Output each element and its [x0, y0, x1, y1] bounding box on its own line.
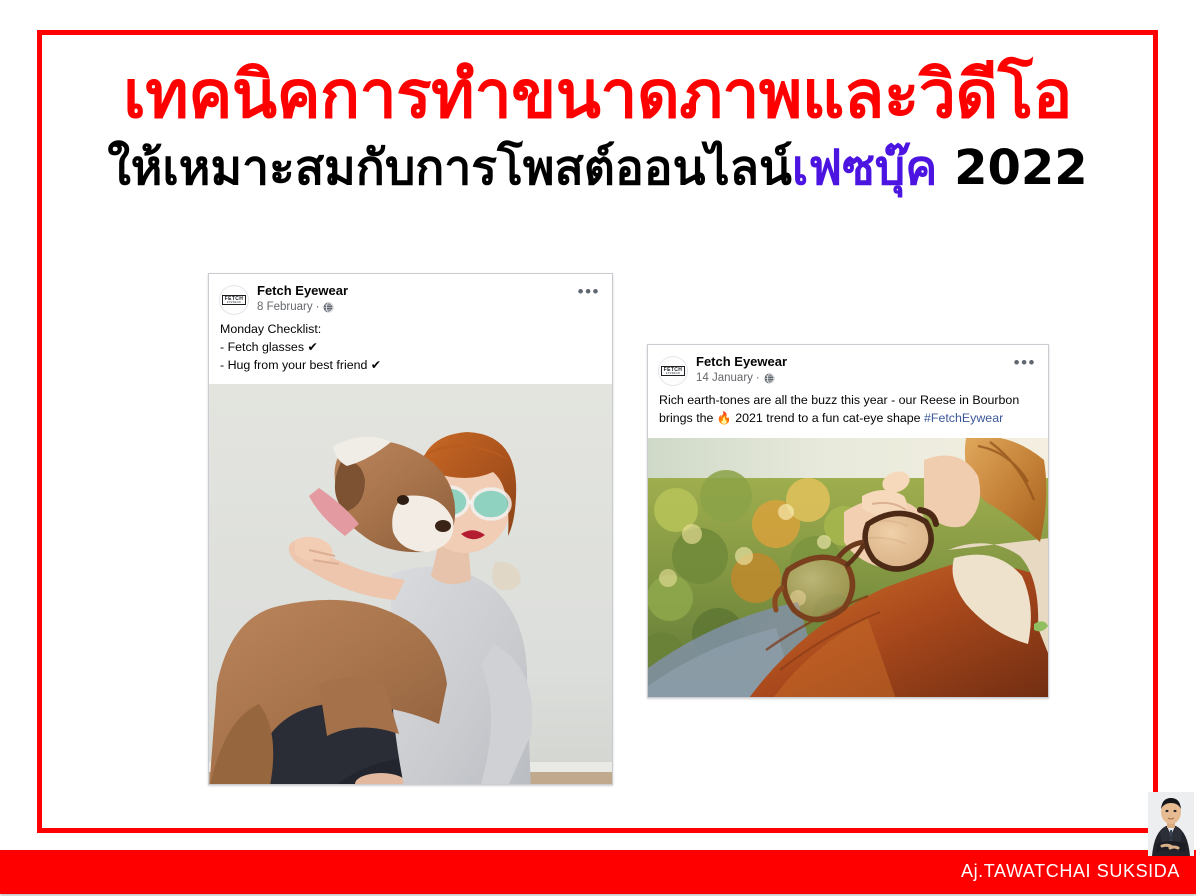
post-meta: 14 January ·: [696, 371, 1014, 387]
more-options-icon[interactable]: •••: [578, 283, 602, 298]
post-header: FETCH EYEWEAR Fetch Eyewear 8 February ·…: [209, 274, 612, 317]
post-meta: 8 February ·: [257, 300, 578, 316]
fetch-logo-mark: FETCH EYEWEAR: [661, 366, 686, 377]
facebook-post-card-2[interactable]: FETCH EYEWEAR Fetch Eyewear 14 January ·…: [647, 344, 1049, 698]
fetch-logo-mark: FETCH EYEWEAR: [222, 295, 247, 306]
post-date[interactable]: 14 January: [696, 371, 753, 387]
post-body-line: - Hug from your best friend ✔: [220, 357, 601, 375]
subtitle-accent-facebook: เฟซบุ๊ค: [792, 140, 938, 196]
globe-icon: [323, 302, 334, 313]
post-body: Monday Checklist: - Fetch glasses ✔ - Hu…: [209, 317, 612, 384]
post-photo-woman-hugging-dog[interactable]: [209, 384, 612, 785]
fire-emoji-icon: 🔥: [717, 411, 732, 425]
post-body-middle: 2021 trend to a fun cat-eye shape: [732, 411, 924, 425]
page-name[interactable]: Fetch Eyewear: [696, 354, 1014, 371]
presenter-photo: [1148, 792, 1194, 856]
post-body-line: - Fetch glasses ✔: [220, 339, 601, 357]
post-header: FETCH EYEWEAR Fetch Eyewear 14 January ·…: [648, 345, 1048, 388]
presenter-name: Aj.TAWATCHAI SUKSIDA: [961, 861, 1180, 882]
globe-icon: [764, 373, 775, 384]
page-name[interactable]: Fetch Eyewear: [257, 283, 578, 300]
page-title: เทคนิคการทำขนาดภาพและวิดีโอ: [37, 60, 1158, 129]
avatar-brand-subtext: EYEWEAR: [225, 302, 244, 304]
meta-separator: ·: [756, 371, 760, 387]
post-body-line: Monday Checklist:: [220, 321, 601, 339]
subtitle-segment-year: 2022: [937, 140, 1087, 196]
avatar[interactable]: FETCH EYEWEAR: [658, 356, 688, 386]
more-options-icon[interactable]: •••: [1014, 354, 1038, 369]
post-header-text: Fetch Eyewear 14 January ·: [696, 354, 1014, 386]
avatar[interactable]: FETCH EYEWEAR: [219, 285, 249, 315]
page-subtitle: ให้เหมาะสมกับการโพสต์ออนไลน์เฟซบุ๊ค 2022: [37, 141, 1158, 196]
post-hashtag-link[interactable]: #FetchEywear: [924, 411, 1003, 425]
facebook-post-card-1[interactable]: FETCH EYEWEAR Fetch Eyewear 8 February ·…: [208, 273, 613, 785]
footer-bar: Aj.TAWATCHAI SUKSIDA: [0, 850, 1196, 894]
meta-separator: ·: [316, 300, 320, 316]
avatar-brand-subtext: EYEWEAR: [664, 373, 683, 375]
title-block: เทคนิคการทำขนาดภาพและวิดีโอ ให้เหมาะสมกั…: [37, 60, 1158, 196]
post-body: Rich earth-tones are all the buzz this y…: [648, 388, 1048, 437]
post-date[interactable]: 8 February: [257, 300, 313, 316]
post-header-text: Fetch Eyewear 8 February ·: [257, 283, 578, 315]
post-photo-glasses-outdoors[interactable]: [648, 438, 1048, 698]
subtitle-segment-1: ให้เหมาะสมกับการโพสต์ออนไลน์: [107, 140, 792, 196]
